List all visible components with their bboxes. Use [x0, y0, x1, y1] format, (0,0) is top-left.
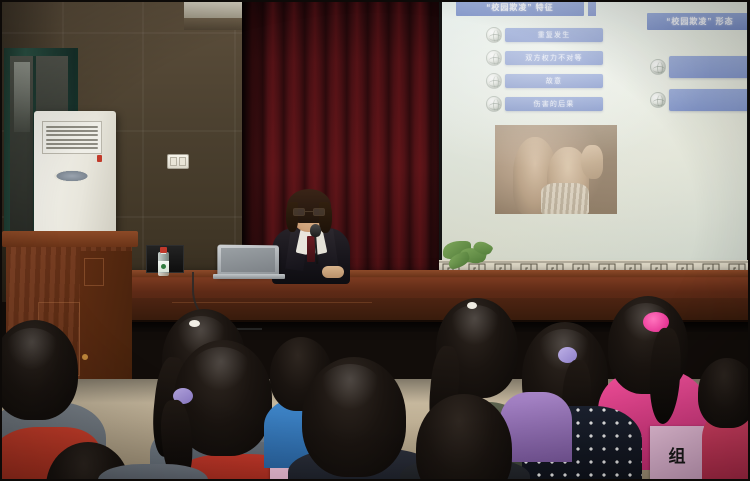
slide-bullet-3: 故意 — [486, 73, 603, 89]
glasses-icon — [293, 208, 325, 216]
lectern-top — [2, 231, 138, 247]
slide-bullet-label: 故意 — [505, 74, 603, 88]
lectern-knob[interactable] — [82, 354, 88, 360]
globe-icon — [486, 50, 502, 66]
student-head — [698, 358, 750, 428]
student-sign-text: 组 — [669, 442, 686, 467]
microphone-icon[interactable] — [310, 224, 321, 237]
globe-icon — [650, 92, 666, 108]
slide-bullet-label: 重复发生 — [505, 28, 603, 42]
student-head — [0, 320, 78, 420]
door-reflection — [14, 62, 30, 132]
water-bottle-logo-icon — [161, 264, 166, 269]
hair-tie — [467, 302, 477, 309]
student-head — [302, 357, 406, 477]
wall-seam — [142, 2, 144, 302]
lectern-inset — [84, 258, 104, 286]
globe-icon — [650, 59, 666, 75]
slide-bullet-label: 伤害的后果 — [505, 97, 603, 111]
slide-bullet-4: 伤害的后果 — [486, 96, 603, 112]
projection-screen: “校园欺凌” 特征 “校园欺凌” 形态 重复发生 双方权力不对等 故意 伤害的后… — [442, 1, 747, 263]
air-conditioner-vent — [42, 121, 102, 154]
slide-right-bullet-2 — [650, 89, 747, 111]
projection-screen-frame: “校园欺凌” 特征 “校园欺凌” 形态 重复发生 双方权力不对等 故意 伤害的后… — [439, 0, 750, 266]
presenter — [270, 192, 356, 284]
slide-title-forms: “校园欺凌” 形态 — [647, 13, 747, 30]
photograph-scene: “校园欺凌” 特征 “校园欺凌” 形态 重复发生 双方权力不对等 故意 伤害的后… — [0, 0, 750, 481]
laptop-screen — [221, 248, 275, 272]
presenter-hair — [319, 202, 332, 233]
light-switch[interactable] — [167, 154, 189, 169]
student-sign-group[interactable]: 组 — [650, 426, 704, 481]
globe-icon — [486, 27, 502, 43]
slide-photo-mother-and-child — [495, 125, 617, 214]
air-conditioner-sticker — [97, 155, 102, 162]
air-conditioner-badge — [54, 170, 90, 182]
slide-bullet-2: 双方权力不对等 — [486, 50, 603, 66]
hair-tie — [189, 320, 200, 327]
slide-title-tab — [588, 1, 596, 16]
globe-icon — [486, 73, 502, 89]
slide-title-characteristics: “校园欺凌” 特征 — [456, 1, 584, 16]
globe-icon — [486, 96, 502, 112]
water-bottle-cap[interactable] — [160, 247, 167, 253]
student-shoulders — [98, 464, 208, 481]
slide-right-bullet-1 — [650, 56, 747, 78]
slide-right-bullet-label — [669, 56, 747, 78]
photo-warm-overlay — [495, 125, 617, 214]
slide-right-bullet-label — [669, 89, 747, 111]
presenter-hair — [286, 202, 298, 232]
presenter-hand — [322, 266, 344, 278]
slide-bullet-1: 重复发生 — [486, 27, 603, 43]
slide-bullet-label: 双方权力不对等 — [505, 51, 603, 65]
